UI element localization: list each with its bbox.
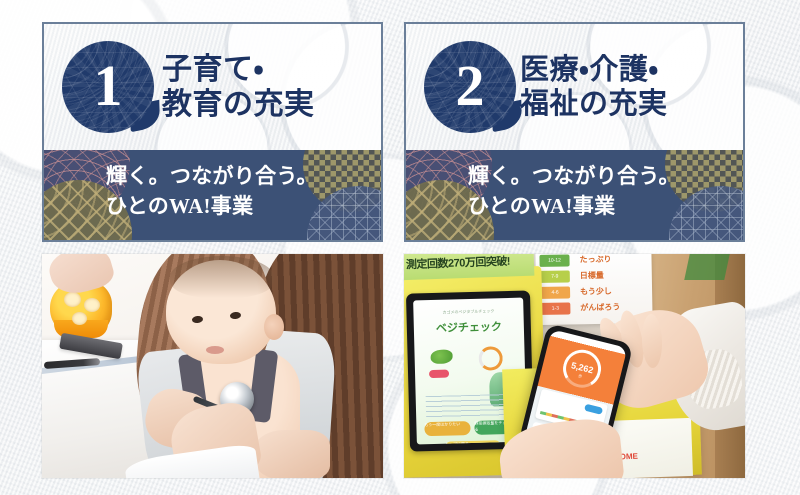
card-2-header: 2 医療・介護・ 福祉の充実 (406, 24, 743, 150)
baby-toy-hole-1 (64, 292, 81, 307)
poster-label-1: たっぷり (579, 254, 611, 266)
card-2-banner-line1: 輝く。つながり合う。 (468, 164, 680, 188)
health-kiosk-photo-content: 10-12 たっぷり 7-9 日標量 4-6 もう少し 1-3 がんばろう 測 (404, 254, 745, 478)
poster-label-4: がんばろう (580, 302, 620, 315)
poster-label-2: 日標量 (580, 270, 604, 282)
green-sign (684, 254, 730, 280)
tablet-subtitle: カゴメのベジタブルチェック (413, 308, 523, 317)
card-2-banner-text: 輝く。つながり合う。 ひとのWA!事業 (406, 150, 743, 222)
baby-checkup-photo[interactable] (42, 254, 383, 478)
baby-checkup-photo-content (42, 254, 383, 478)
promo-card-2[interactable]: 2 医療・介護・ 福祉の充実 輝く。つながり合う。 ひとのWA!事業 (404, 22, 745, 242)
card-1-title-line2: 教育の充実 (162, 87, 315, 122)
card-2-banner-line2: ひとのWA!事業 (468, 192, 743, 222)
card-2-title-line1: 医療・介護・ (520, 54, 659, 86)
card-1-header: 1 子育て・ 教育の充実 (44, 24, 381, 150)
poster-tag-3: 4-6 (540, 286, 570, 299)
badge-1: 1 (62, 41, 154, 133)
badge-2: 2 (424, 41, 516, 133)
mother-hand-right (254, 430, 330, 478)
poster-tag-2: 7-9 (540, 270, 570, 283)
card-1-banner-line2: ひとのWA!事業 (106, 192, 381, 222)
card-2-banner: 輝く。つながり合う。 ひとのWA!事業 (406, 150, 743, 240)
vegetable-icon (430, 349, 452, 364)
tablet-title: ベジチェック (414, 318, 524, 337)
baby-ear (264, 314, 284, 340)
card-1-title: 子育て・ 教育の充実 (162, 52, 315, 123)
baby-toy-hole-3 (72, 312, 87, 325)
baby-mouth (206, 346, 224, 354)
card-2-title-line2: 福祉の充実 (520, 87, 668, 121)
baby-toy-hole-2 (84, 298, 100, 312)
poster-label-3: もう少し (580, 286, 612, 299)
card-1-title-line1: 子育て・ (162, 53, 264, 86)
baby-hair (170, 256, 274, 298)
tablet-gauge-icon (478, 346, 503, 371)
promo-card-1[interactable]: 1 子育て・ 教育の充実 輝く。つながり合う。 ひとのWA!事業 (42, 22, 383, 242)
poster-tag-1: 10-12 (539, 254, 569, 267)
tablet-chip-badge (429, 370, 449, 379)
promo-frame: 1 子育て・ 教育の充実 輝く。つながり合う。 ひとのWA!事業 2 (0, 0, 800, 495)
health-kiosk-photo[interactable]: 10-12 たっぷり 7-9 日標量 4-6 もう少し 1-3 がんばろう 測 (404, 254, 745, 478)
badge-1-number: 1 (62, 41, 154, 133)
app-pill-badge (584, 404, 603, 415)
badge-2-number: 2 (424, 41, 516, 133)
card-1-banner-text: 輝く。つながり合う。 ひとのWA!事業 (44, 150, 381, 222)
card-2-title: 医療・介護・ 福祉の充実 (520, 53, 668, 121)
card-1-banner: 輝く。つながり合う。 ひとのWA!事業 (44, 150, 381, 240)
tablet-button-1[interactable]: もう一度はかりたい (424, 421, 470, 436)
poster-tag-4: 1-3 (540, 302, 570, 315)
card-1-banner-line1: 輝く。つながり合う。 (106, 164, 318, 188)
